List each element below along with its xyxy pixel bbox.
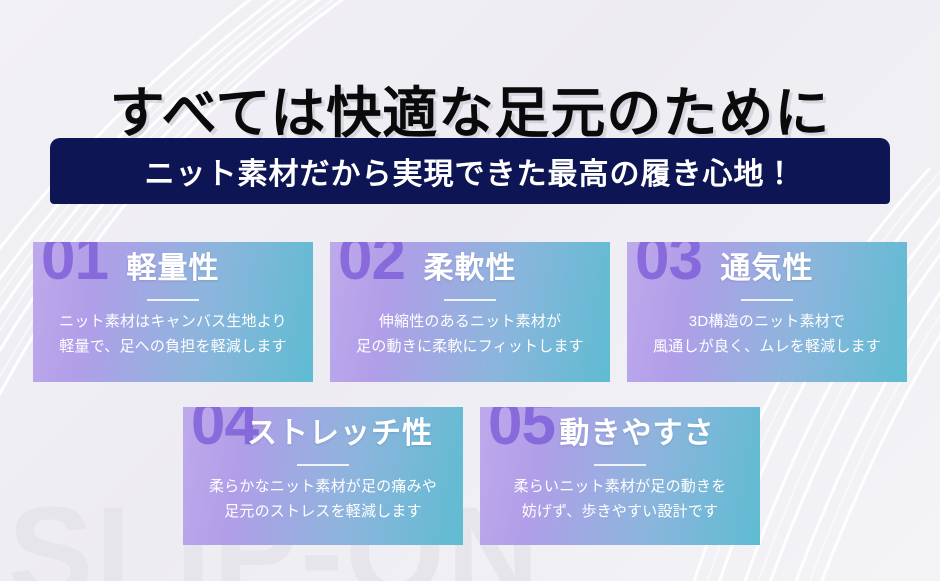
feature-title-04: ストレッチ性 <box>183 415 463 453</box>
feature-description-line-1: 柔らいニット素材が足の動きを <box>480 475 760 500</box>
feature-description-04: 柔らかなニット素材が足の痛みや 足元のストレスを軽減します <box>183 475 463 525</box>
feature-description-line-2: 風通しが良く、ムレを軽減します <box>627 335 907 360</box>
feature-divider-05 <box>594 464 646 466</box>
feature-divider-02 <box>444 299 496 301</box>
promo-slide: SLIP-ON すべては快適な足元のために ニット素材だから実現できた最高の履き… <box>0 0 940 581</box>
feature-divider-03 <box>741 299 793 301</box>
feature-title-02: 柔軟性 <box>330 250 610 288</box>
feature-description-01: ニット素材はキャンバス生地より 軽量で、足への負担を軽減します <box>33 310 313 360</box>
feature-description-line-1: 柔らかなニット素材が足の痛みや <box>183 475 463 500</box>
feature-card-01: 01 軽量性 ニット素材はキャンバス生地より 軽量で、足への負担を軽減します <box>33 242 313 382</box>
feature-description-03: 3D構造のニット素材で 風通しが良く、ムレを軽減します <box>627 310 907 360</box>
subtitle-banner: ニット素材だから実現できた最高の履き心地！ <box>50 138 890 204</box>
feature-card-05: 05 動きやすさ 柔らいニット素材が足の動きを 妨げず、歩きやすい設計です <box>480 407 760 545</box>
feature-description-line-2: 軽量で、足への負担を軽減します <box>33 335 313 360</box>
feature-description-02: 伸縮性のあるニット素材が 足の動きに柔軟にフィットします <box>330 310 610 360</box>
feature-description-line-1: ニット素材はキャンバス生地より <box>33 310 313 335</box>
page-title: すべては快適な足元のために <box>0 85 940 143</box>
feature-card-04: 04 ストレッチ性 柔らかなニット素材が足の痛みや 足元のストレスを軽減します <box>183 407 463 545</box>
feature-description-line-1: 伸縮性のあるニット素材が <box>330 310 610 335</box>
feature-description-line-2: 妨げず、歩きやすい設計です <box>480 500 760 525</box>
feature-divider-01 <box>147 299 199 301</box>
feature-title-05: 動きやすさ <box>480 415 760 453</box>
feature-title-03: 通気性 <box>627 250 907 288</box>
feature-description-line-2: 足の動きに柔軟にフィットします <box>330 335 610 360</box>
feature-description-line-1: 3D構造のニット素材で <box>627 310 907 335</box>
feature-card-02: 02 柔軟性 伸縮性のあるニット素材が 足の動きに柔軟にフィットします <box>330 242 610 382</box>
feature-description-line-2: 足元のストレスを軽減します <box>183 500 463 525</box>
feature-divider-04 <box>297 464 349 466</box>
subtitle-banner-text: ニット素材だから実現できた最高の履き心地！ <box>145 149 796 193</box>
feature-title-01: 軽量性 <box>33 250 313 288</box>
feature-card-03: 03 通気性 3D構造のニット素材で 風通しが良く、ムレを軽減します <box>627 242 907 382</box>
feature-description-05: 柔らいニット素材が足の動きを 妨げず、歩きやすい設計です <box>480 475 760 525</box>
